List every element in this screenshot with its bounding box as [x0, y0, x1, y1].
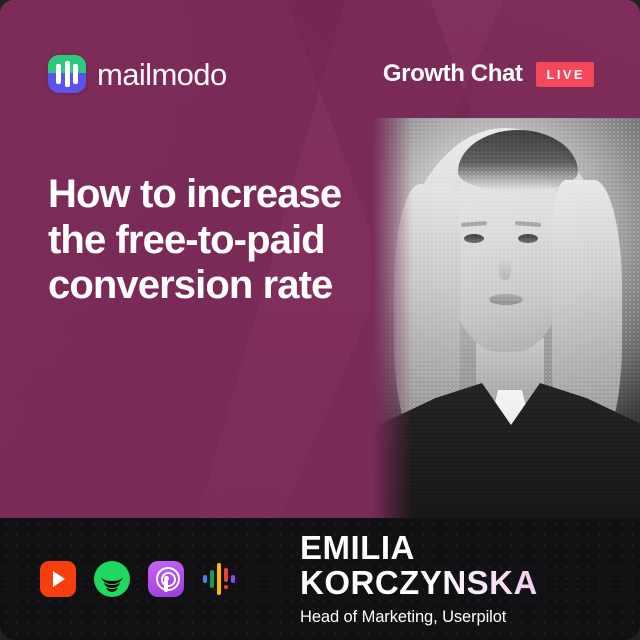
brand-logo[interactable]: mailmodo — [48, 55, 227, 93]
portrait-left-fade — [372, 118, 412, 518]
mailmodo-logo-icon — [48, 55, 86, 93]
speaker-role: Head of Marketing, Userpilot — [300, 608, 640, 627]
show-title: Growth Chat — [383, 62, 523, 86]
page-title: How to increase the free-to-paid convers… — [48, 172, 428, 309]
spotify-icon[interactable] — [94, 561, 130, 597]
youtube-icon[interactable] — [40, 561, 76, 597]
portrait-image — [372, 118, 640, 518]
portrait-halftone-texture — [372, 118, 640, 518]
platform-icon-list — [40, 561, 238, 597]
poster-header: mailmodo Growth Chat LIVE — [0, 52, 640, 96]
google-podcasts-icon[interactable] — [202, 561, 238, 597]
webinar-promo-poster: mailmodo Growth Chat LIVE How to increas… — [0, 0, 640, 640]
poster-footer: EMILIA KORCZYNSKA Head of Marketing, Use… — [0, 518, 640, 640]
speaker-name: EMILIA KORCZYNSKA — [300, 531, 640, 600]
live-badge: LIVE — [536, 62, 595, 87]
apple-podcasts-icon[interactable] — [148, 561, 184, 597]
brand-wordmark: mailmodo — [97, 59, 227, 90]
show-branding: Growth Chat LIVE — [383, 62, 594, 87]
speaker-info: EMILIA KORCZYNSKA Head of Marketing, Use… — [300, 531, 640, 626]
speaker-portrait — [372, 118, 640, 518]
